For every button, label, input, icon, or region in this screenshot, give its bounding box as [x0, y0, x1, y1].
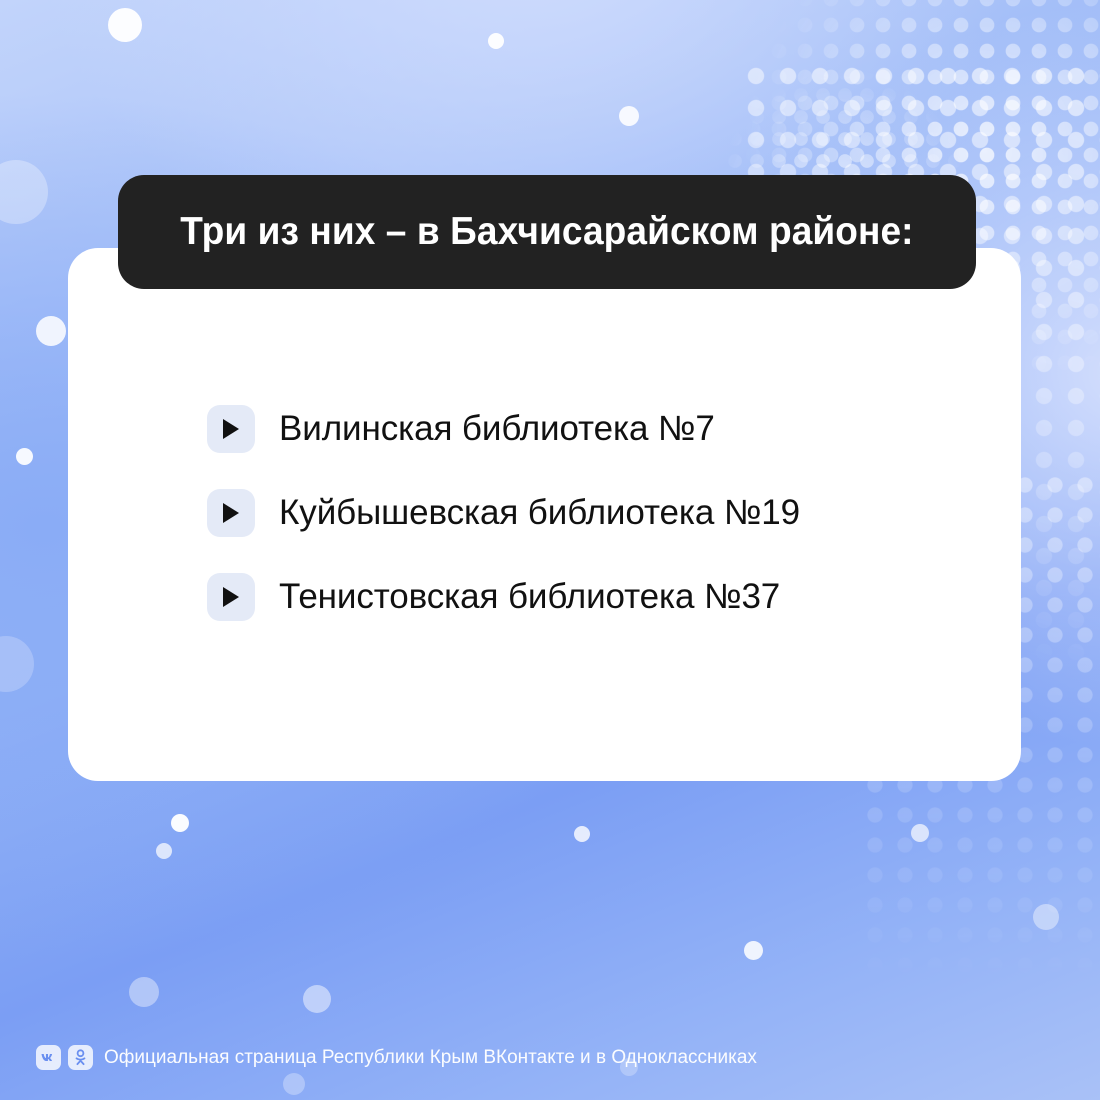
list-item[interactable]: Тенистовская библиотека №37 — [207, 573, 800, 621]
decorative-circle — [0, 636, 34, 692]
decorative-circle — [744, 941, 763, 960]
decorative-circle — [911, 824, 929, 842]
list-item[interactable]: Вилинская библиотека №7 — [207, 405, 800, 453]
content-card: Вилинская библиотека №7 Куйбышевская биб… — [68, 248, 1021, 781]
decorative-circle — [1033, 904, 1059, 930]
decorative-circle — [156, 843, 172, 859]
decorative-circle — [303, 985, 331, 1013]
page-title: Три из них – в Бахчисарайском районе: — [180, 210, 913, 254]
decorative-circle — [129, 977, 159, 1007]
poster-canvas: Вилинская библиотека №7 Куйбышевская биб… — [0, 0, 1100, 1100]
list-item-label: Вилинская библиотека №7 — [279, 409, 715, 449]
decorative-circle — [171, 814, 189, 832]
library-list: Вилинская библиотека №7 Куйбышевская биб… — [207, 405, 800, 621]
play-triangle-icon — [207, 405, 255, 453]
decorative-circle — [0, 160, 48, 224]
play-triangle-icon — [207, 489, 255, 537]
list-item[interactable]: Куйбышевская библиотека №19 — [207, 489, 800, 537]
decorative-circle — [16, 448, 33, 465]
decorative-circle — [108, 8, 142, 42]
vk-icon[interactable] — [36, 1045, 61, 1070]
decorative-circle — [619, 106, 639, 126]
list-item-label: Куйбышевская библиотека №19 — [279, 493, 800, 533]
decorative-circle — [36, 316, 66, 346]
list-item-label: Тенистовская библиотека №37 — [279, 577, 780, 617]
decorative-circle — [574, 826, 590, 842]
title-bar: Три из них – в Бахчисарайском районе: — [118, 175, 976, 289]
decorative-circle — [488, 33, 504, 49]
footer: Официальная страница Республики Крым ВКо… — [36, 1045, 757, 1070]
footer-text: Официальная страница Республики Крым ВКо… — [104, 1047, 757, 1069]
decorative-circle — [283, 1073, 305, 1095]
ok-icon[interactable] — [68, 1045, 93, 1070]
play-triangle-icon — [207, 573, 255, 621]
